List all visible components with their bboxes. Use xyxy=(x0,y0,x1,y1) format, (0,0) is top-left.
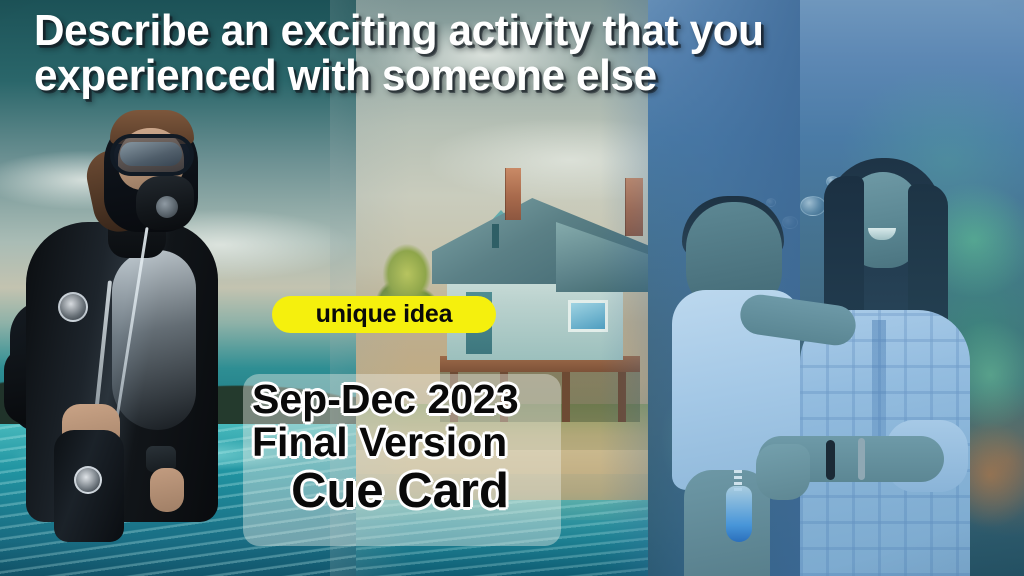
info-title-cue-card: Cue Card xyxy=(252,465,562,519)
info-date-range: Sep-Dec 2023 xyxy=(252,378,562,421)
info-version: Final Version xyxy=(252,421,562,464)
headline: Describe an exciting activity that you e… xyxy=(34,8,963,99)
headline-line-1: Describe an exciting activity that you xyxy=(34,8,963,53)
unique-idea-badge-label: unique idea xyxy=(316,300,453,329)
unique-idea-badge: unique idea xyxy=(272,296,496,333)
youtube-thumbnail: Describe an exciting activity that you e… xyxy=(0,0,1024,576)
headline-line-2: experienced with someone else xyxy=(34,53,963,98)
info-panel-text: Sep-Dec 2023 Final Version Cue Card xyxy=(252,378,562,519)
